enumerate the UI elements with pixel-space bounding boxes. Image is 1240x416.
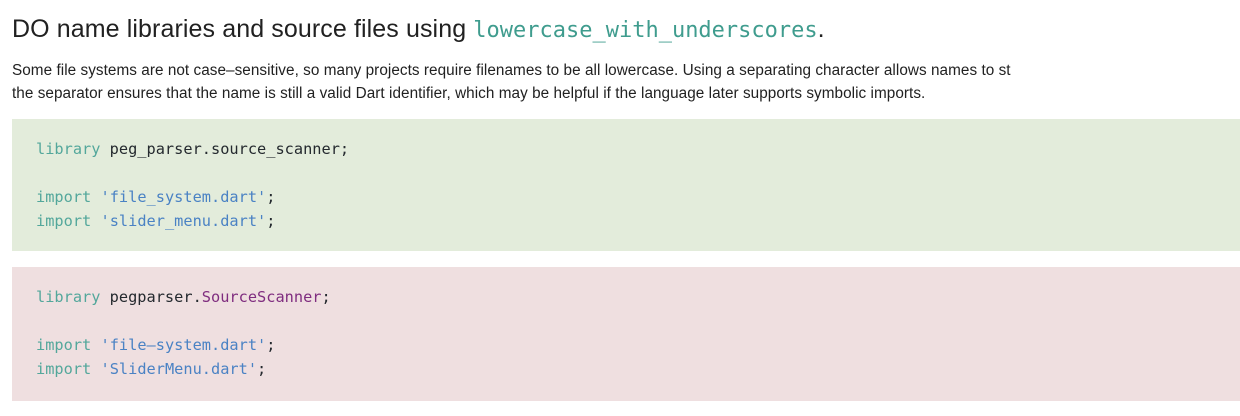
code-token-punct: ; bbox=[266, 188, 275, 206]
code-token-keyword: library bbox=[36, 288, 100, 306]
page-title-text-after: . bbox=[818, 15, 825, 43]
code-token-string: 'slider_menu.dart' bbox=[100, 212, 266, 230]
code-line: library pegparser.SourceScanner; bbox=[36, 285, 1240, 309]
rule-description-line-2: the separator ensures that the name is s… bbox=[12, 82, 1240, 105]
bad-code-example: library pegparser.SourceScanner; import … bbox=[12, 267, 1240, 401]
code-token-punct: ; bbox=[257, 360, 266, 378]
rule-description-line-1: Some file systems are not case–sensitive… bbox=[12, 59, 1240, 82]
page-title-code-span: lowercase_with_underscores bbox=[473, 18, 817, 43]
code-token-string: 'file–system.dart' bbox=[100, 336, 266, 354]
code-line: import 'file_system.dart'; bbox=[36, 185, 1240, 209]
code-line bbox=[36, 161, 1240, 185]
code-token-class: SourceScanner bbox=[202, 288, 322, 306]
code-line: import 'SliderMenu.dart'; bbox=[36, 357, 1240, 381]
code-line: import 'slider_menu.dart'; bbox=[36, 209, 1240, 233]
code-token-plain: peg_parser.source_scanner bbox=[100, 140, 339, 158]
code-token-keyword: import bbox=[36, 212, 91, 230]
code-token-punct: ; bbox=[322, 288, 331, 306]
code-token-keyword: import bbox=[36, 360, 91, 378]
code-token-string: 'SliderMenu.dart' bbox=[100, 360, 257, 378]
code-token-keyword: library bbox=[36, 140, 100, 158]
code-token-punct: ; bbox=[340, 140, 349, 158]
style-guide-rule-section: DO name libraries and source files using… bbox=[0, 0, 1240, 416]
page-title-text-before: DO name libraries and source files using bbox=[12, 15, 473, 43]
code-token-string: 'file_system.dart' bbox=[100, 188, 266, 206]
code-line: library peg_parser.source_scanner; bbox=[36, 137, 1240, 161]
code-token-punct: ; bbox=[266, 336, 275, 354]
rule-description: Some file systems are not case–sensitive… bbox=[12, 46, 1240, 105]
code-line bbox=[36, 309, 1240, 333]
page-title: DO name libraries and source files using… bbox=[12, 0, 1240, 46]
code-token-plain: pegparser. bbox=[100, 288, 201, 306]
code-line: import 'file–system.dart'; bbox=[36, 333, 1240, 357]
good-code-example: library peg_parser.source_scanner; impor… bbox=[12, 119, 1240, 251]
code-token-keyword: import bbox=[36, 188, 91, 206]
code-token-keyword: import bbox=[36, 336, 91, 354]
code-token-punct: ; bbox=[266, 212, 275, 230]
